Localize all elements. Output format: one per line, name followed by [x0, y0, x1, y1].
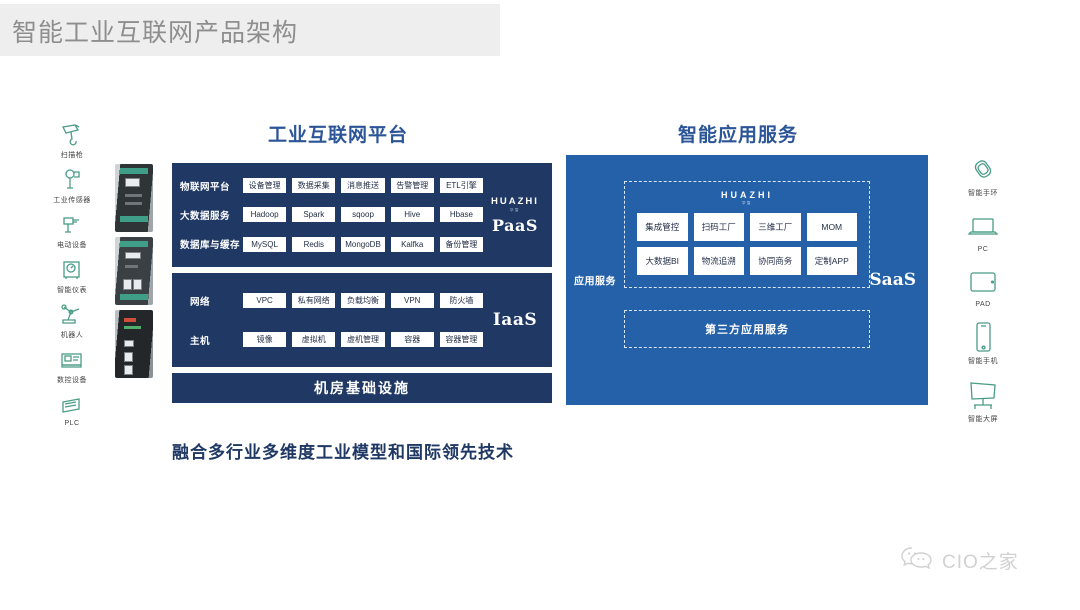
paas-cell[interactable]: ETL引擎 [439, 177, 484, 194]
rail-item-electric-tool: 电动设备 [42, 212, 102, 250]
rail-label: 智能大屏 [968, 414, 998, 424]
watermark: CIO之家 [900, 545, 1019, 576]
paas-cell[interactable]: Hbase [439, 206, 484, 223]
tier-name-paas: PaaS [492, 216, 538, 235]
rail-item-scanner: 扫描枪 [42, 122, 102, 160]
industrial-gateway-device [115, 310, 153, 378]
iaas-tier-marker: IaaS [484, 273, 546, 367]
row-label: 网络 [180, 294, 242, 308]
rail-item-smart-band: 智能手环 [952, 152, 1014, 198]
tagline: 融合多行业多维度工业模型和国际领先技术 [172, 438, 514, 463]
paas-row-iot: 物联网平台 设备管理 数据采集 消息推送 告警管理 ETL引擎 [180, 177, 484, 194]
paas-cell[interactable]: Spark [291, 206, 336, 223]
saas-app-cell[interactable]: 集成管控 [637, 213, 688, 241]
third-party-service-label: 第三方应用服务 [705, 321, 789, 337]
paas-tier-marker: HUAZHI 华智 PaaS [484, 163, 546, 267]
iaas-cell[interactable]: 私有网络 [291, 292, 336, 309]
rail-label: 智能仪表 [57, 285, 87, 295]
plc-icon [57, 392, 87, 418]
wechat-icon [900, 545, 934, 576]
left-device-rail: 扫描枪 工业传感器 电动设备 [42, 122, 102, 434]
paas-row-bigdata: 大数据服务 Hadoop Spark sqoop Hive Hbase [180, 206, 484, 223]
paas-cell[interactable]: MongoDB [340, 236, 385, 253]
smart-meter-icon [57, 257, 87, 283]
watermark-text: CIO之家 [942, 547, 1019, 574]
saas-panel: 应用服务 SaaS HUAZHI 华智 集成管控 扫码工厂 三维工厂 MOM 大… [566, 155, 928, 405]
rail-label: PC [978, 246, 989, 253]
rail-item-robot: 机器人 [42, 302, 102, 340]
iaas-cell[interactable]: 虚拟机 [291, 331, 336, 348]
laptop-icon [966, 210, 1000, 244]
iaas-cell[interactable]: 负载均衡 [340, 292, 385, 309]
platform-stack: 物联网平台 设备管理 数据采集 消息推送 告警管理 ETL引擎 大数据服务 Ha… [172, 163, 552, 403]
rail-label: 机器人 [61, 330, 84, 340]
paas-cell[interactable]: MySQL [242, 236, 287, 253]
saas-app-grid: 集成管控 扫码工厂 三维工厂 MOM 大数据BI 物流追溯 协同商务 定制APP [637, 213, 857, 275]
electric-tool-icon [57, 212, 87, 238]
huazhi-logo-main: HUAZHI [637, 190, 857, 200]
rail-item-pad: PAD [952, 265, 1014, 308]
saas-app-cell[interactable]: 三维工厂 [750, 213, 801, 241]
huazhi-logo-main: HUAZHI [491, 196, 539, 207]
rail-item-plc: PLC [42, 392, 102, 427]
iaas-cell[interactable]: VPN [390, 292, 435, 309]
rail-item-smart-meter: 智能仪表 [42, 257, 102, 295]
saas-app-cell[interactable]: 协同商务 [750, 247, 801, 275]
rail-item-pc: PC [952, 210, 1014, 253]
iaas-cell[interactable]: 镜像 [242, 331, 287, 348]
row-label: 数据库与缓存 [180, 237, 242, 251]
smart-band-icon [966, 152, 1000, 186]
row-label: 物联网平台 [180, 179, 242, 193]
huazhi-logo-sub: 华智 [491, 208, 539, 213]
cnc-machine-icon [57, 347, 87, 373]
hardware-device-column [115, 164, 155, 383]
rail-label: PLC [64, 420, 79, 427]
heading-industrial-internet-platform: 工业互联网平台 [268, 120, 408, 147]
smartphone-icon [966, 320, 1000, 354]
saas-app-cell[interactable]: 物流追溯 [694, 247, 745, 275]
saas-app-cell[interactable]: MOM [807, 213, 858, 241]
rail-item-smartphone: 智能手机 [952, 320, 1014, 366]
rail-item-large-screen: 智能大屏 [952, 378, 1014, 424]
saas-application-box: HUAZHI 华智 集成管控 扫码工厂 三维工厂 MOM 大数据BI 物流追溯 … [624, 181, 870, 288]
row-label: 大数据服务 [180, 208, 242, 222]
large-screen-icon [966, 378, 1000, 412]
paas-cell[interactable]: Kalfka [390, 236, 435, 253]
iaas-cell[interactable]: 容器管理 [439, 331, 484, 348]
rail-label: PAD [975, 301, 990, 308]
rail-label: 工业传感器 [53, 195, 91, 205]
iaas-cell[interactable]: 虚机管理 [340, 331, 385, 348]
rail-label: 扫描枪 [61, 150, 84, 160]
saas-app-cell[interactable]: 大数据BI [637, 247, 688, 275]
paas-cell[interactable]: Hadoop [242, 206, 287, 223]
rail-item-cnc: 数控设备 [42, 347, 102, 385]
saas-app-cell[interactable]: 定制APP [807, 247, 858, 275]
paas-row-database: 数据库与缓存 MySQL Redis MongoDB Kalfka 备份管理 [180, 236, 484, 253]
industrial-sensor-icon [57, 167, 87, 193]
paas-panel: 物联网平台 设备管理 数据采集 消息推送 告警管理 ETL引擎 大数据服务 Ha… [172, 163, 552, 267]
iaas-cell[interactable]: 防火墙 [439, 292, 484, 309]
iaas-row-host: 主机 镜像 虚拟机 虚机管理 容器 容器管理 [180, 331, 484, 348]
paas-cell[interactable]: sqoop [340, 206, 385, 223]
industrial-gateway-device [115, 164, 153, 232]
rail-label: 智能手机 [968, 356, 998, 366]
paas-cell[interactable]: 备份管理 [439, 236, 484, 253]
barcode-scanner-icon [57, 122, 87, 148]
heading-smart-application-services: 智能应用服务 [678, 120, 798, 147]
row-label: 主机 [180, 333, 242, 347]
iaas-row-network: 网络 VPC 私有网络 负载均衡 VPN 防火墙 [180, 292, 484, 309]
huazhi-logo-sub: 华智 [637, 201, 857, 206]
infrastructure-label: 机房基础设施 [314, 378, 410, 398]
paas-cell[interactable]: Redis [291, 236, 336, 253]
industrial-gateway-device [115, 237, 153, 305]
rail-label: 智能手环 [968, 188, 998, 198]
paas-cell[interactable]: 设备管理 [242, 177, 287, 194]
rail-label: 电动设备 [57, 240, 87, 250]
paas-cell[interactable]: 消息推送 [340, 177, 385, 194]
paas-cell[interactable]: Hive [390, 206, 435, 223]
iaas-panel: 网络 VPC 私有网络 负载均衡 VPN 防火墙 主机 镜像 虚拟机 虚机管理 … [172, 273, 552, 367]
huazhi-logo: HUAZHI 华智 [637, 190, 857, 206]
right-device-rail: 智能手环 PC PAD 智能手机 [952, 152, 1014, 436]
paas-cell[interactable]: 数据采集 [291, 177, 336, 194]
saas-side-label: 应用服务 [574, 273, 616, 288]
robot-arm-icon [57, 302, 87, 328]
tablet-icon [966, 265, 1000, 299]
rail-label: 数控设备 [57, 375, 87, 385]
tier-name-iaas: IaaS [493, 310, 537, 330]
iaas-cell[interactable]: VPC [242, 292, 287, 309]
saas-app-cell[interactable]: 扫码工厂 [694, 213, 745, 241]
rail-item-sensor: 工业传感器 [42, 167, 102, 205]
page-title: 智能工业互联网产品架构 [12, 13, 298, 49]
iaas-cell[interactable]: 容器 [390, 331, 435, 348]
huazhi-logo: HUAZHI 华智 [491, 196, 539, 213]
third-party-service-box: 第三方应用服务 [624, 310, 870, 348]
infrastructure-panel: 机房基础设施 [172, 373, 552, 403]
tier-name-saas: SaaS [869, 270, 916, 290]
paas-cell[interactable]: 告警管理 [390, 177, 435, 194]
